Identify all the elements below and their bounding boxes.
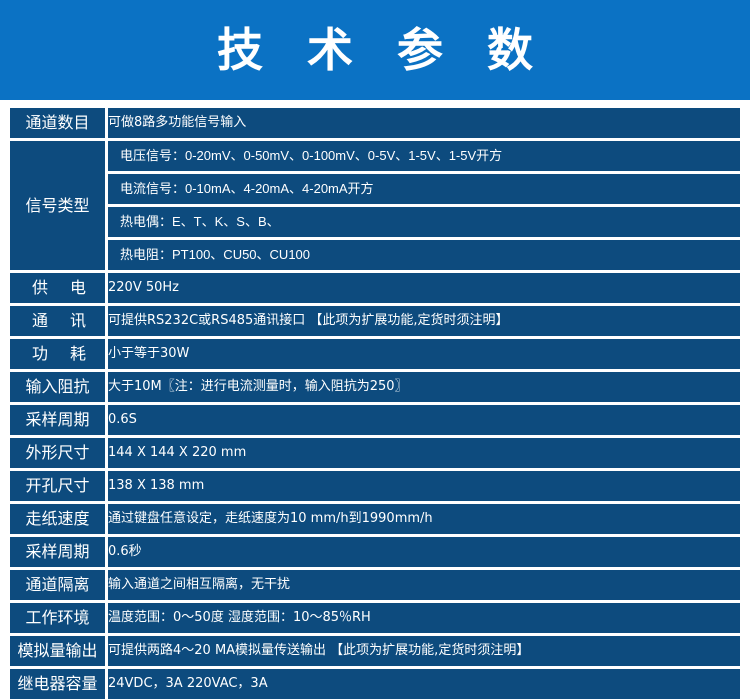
spec-value-cell: 144 X 144 X 220 mm xyxy=(108,438,740,471)
spec-label-cell: 继电器容量 xyxy=(10,669,108,699)
spec-value-text: 热电阻：PT100、CU50、CU100 xyxy=(108,240,740,270)
spec-value-cell: 24VDC，3A 220VAC，3A xyxy=(108,669,740,699)
spec-label-text: 输入阻抗 xyxy=(25,372,89,402)
spec-label-cell: 功耗 xyxy=(10,339,108,372)
page-title: 技 术 参 数 xyxy=(203,27,547,73)
table-row: 工作环境温度范围：0～50度 湿度范围：10～85％RH xyxy=(10,603,740,636)
spec-label-text: 通道隔离 xyxy=(25,570,89,600)
spec-label-cell: 通讯 xyxy=(10,306,108,339)
spec-label-cell: 外形尺寸 xyxy=(10,438,108,471)
spec-value-text: 热电偶：E、T、K、S、B、 xyxy=(108,207,740,240)
table-row: 外形尺寸144 X 144 X 220 mm xyxy=(10,438,740,471)
spec-label-cell: 信号类型 xyxy=(10,141,108,273)
table-row: 通道数目可做8路多功能信号输入 xyxy=(10,108,740,141)
spec-label-text: 模拟量输出 xyxy=(17,636,97,666)
spec-label-text: 工作环境 xyxy=(25,603,89,633)
spec-label-cell: 供电 xyxy=(10,273,108,306)
spec-value-cell: 通过键盘任意设定，走纸速度为10 mm/h到1990mm/h xyxy=(108,504,740,537)
spec-label-text: 继电器容量 xyxy=(17,669,97,699)
spec-value-cell: 0.6秒 xyxy=(108,537,740,570)
table-row: 通讯可提供RS232C或RS485通讯接口 【此项为扩展功能,定货时须注明】 xyxy=(10,306,740,339)
spec-value-cell: 输入通道之间相互隔离，无干扰 xyxy=(108,570,740,603)
spec-value-cell: 可做8路多功能信号输入 xyxy=(108,108,740,141)
table-row: 模拟量输出可提供两路4～20 MA模拟量传送输出 【此项为扩展功能,定货时须注明… xyxy=(10,636,740,669)
spec-table: 通道数目可做8路多功能信号输入信号类型电压信号：0-20mV、0-50mV、0-… xyxy=(10,108,740,699)
table-row: 开孔尺寸138 X 138 mm xyxy=(10,471,740,504)
spec-subrow: 电压信号：0-20mV、0-50mV、0-100mV、0-5V、1-5V、1-5… xyxy=(108,141,740,174)
table-row: 功耗小于等于30W xyxy=(10,339,740,372)
spec-label-text: 信号类型 xyxy=(25,191,89,221)
spec-label-cell: 走纸速度 xyxy=(10,504,108,537)
spec-value-text: 电压信号：0-20mV、0-50mV、0-100mV、0-5V、1-5V、1-5… xyxy=(108,141,740,174)
spec-subrow: 热电偶：E、T、K、S、B、 xyxy=(108,207,740,240)
spec-label-text: 采样周期 xyxy=(25,405,89,435)
spec-label-cell: 通道隔离 xyxy=(10,570,108,603)
spec-label-cell: 通道数目 xyxy=(10,108,108,141)
table-row: 输入阻抗大于10M〖注：进行电流测量时，输入阻抗为250〗 xyxy=(10,372,740,405)
spec-label-cell: 工作环境 xyxy=(10,603,108,636)
spec-label-text: 开孔尺寸 xyxy=(25,471,89,501)
spec-value-text: 电流信号：0-10mA、4-20mA、4-20mA开方 xyxy=(108,174,740,207)
table-row: 信号类型电压信号：0-20mV、0-50mV、0-100mV、0-5V、1-5V… xyxy=(10,141,740,273)
spec-label-text: 外形尺寸 xyxy=(25,438,89,468)
spec-value-subtable: 电压信号：0-20mV、0-50mV、0-100mV、0-5V、1-5V、1-5… xyxy=(108,141,740,270)
spec-value-group-cell: 电压信号：0-20mV、0-50mV、0-100mV、0-5V、1-5V、1-5… xyxy=(108,141,740,273)
spec-label-cell: 采样周期 xyxy=(10,405,108,438)
spec-value-cell: 0.6S xyxy=(108,405,740,438)
spec-sheet-page: 技 术 参 数 通道数目可做8路多功能信号输入信号类型电压信号：0-20mV、0… xyxy=(0,0,750,622)
spec-label-text: 采样周期 xyxy=(25,537,89,567)
spec-value-cell: 可提供RS232C或RS485通讯接口 【此项为扩展功能,定货时须注明】 xyxy=(108,306,740,339)
page-banner: 技 术 参 数 xyxy=(0,0,750,100)
spec-label-text: 通道数目 xyxy=(25,108,89,138)
table-row: 继电器容量24VDC，3A 220VAC，3A xyxy=(10,669,740,699)
spec-label-cell: 采样周期 xyxy=(10,537,108,570)
table-row: 通道隔离输入通道之间相互隔离，无干扰 xyxy=(10,570,740,603)
table-row: 采样周期0.6S xyxy=(10,405,740,438)
spec-label-cell: 模拟量输出 xyxy=(10,636,108,669)
spec-value-cell: 220V 50Hz xyxy=(108,273,740,306)
spec-label-text: 功耗 xyxy=(10,339,108,369)
spec-label-text: 供电 xyxy=(10,273,108,303)
spec-value-cell: 温度范围：0～50度 湿度范围：10～85％RH xyxy=(108,603,740,636)
table-row: 采样周期0.6秒 xyxy=(10,537,740,570)
spec-table-body: 通道数目可做8路多功能信号输入信号类型电压信号：0-20mV、0-50mV、0-… xyxy=(10,108,740,699)
spec-value-cell: 138 X 138 mm xyxy=(108,471,740,504)
spec-label-cell: 开孔尺寸 xyxy=(10,471,108,504)
table-row: 走纸速度通过键盘任意设定，走纸速度为10 mm/h到1990mm/h xyxy=(10,504,740,537)
spec-label-cell: 输入阻抗 xyxy=(10,372,108,405)
spec-subrow: 电流信号：0-10mA、4-20mA、4-20mA开方 xyxy=(108,174,740,207)
spec-value-cell: 小于等于30W xyxy=(108,339,740,372)
spec-value-cell: 可提供两路4～20 MA模拟量传送输出 【此项为扩展功能,定货时须注明】 xyxy=(108,636,740,669)
spec-value-cell: 大于10M〖注：进行电流测量时，输入阻抗为250〗 xyxy=(108,372,740,405)
spec-table-container: 通道数目可做8路多功能信号输入信号类型电压信号：0-20mV、0-50mV、0-… xyxy=(0,100,750,699)
spec-label-text: 通讯 xyxy=(10,306,108,336)
spec-label-text: 走纸速度 xyxy=(25,504,89,534)
table-row: 供电220V 50Hz xyxy=(10,273,740,306)
spec-subrow: 热电阻：PT100、CU50、CU100 xyxy=(108,240,740,270)
